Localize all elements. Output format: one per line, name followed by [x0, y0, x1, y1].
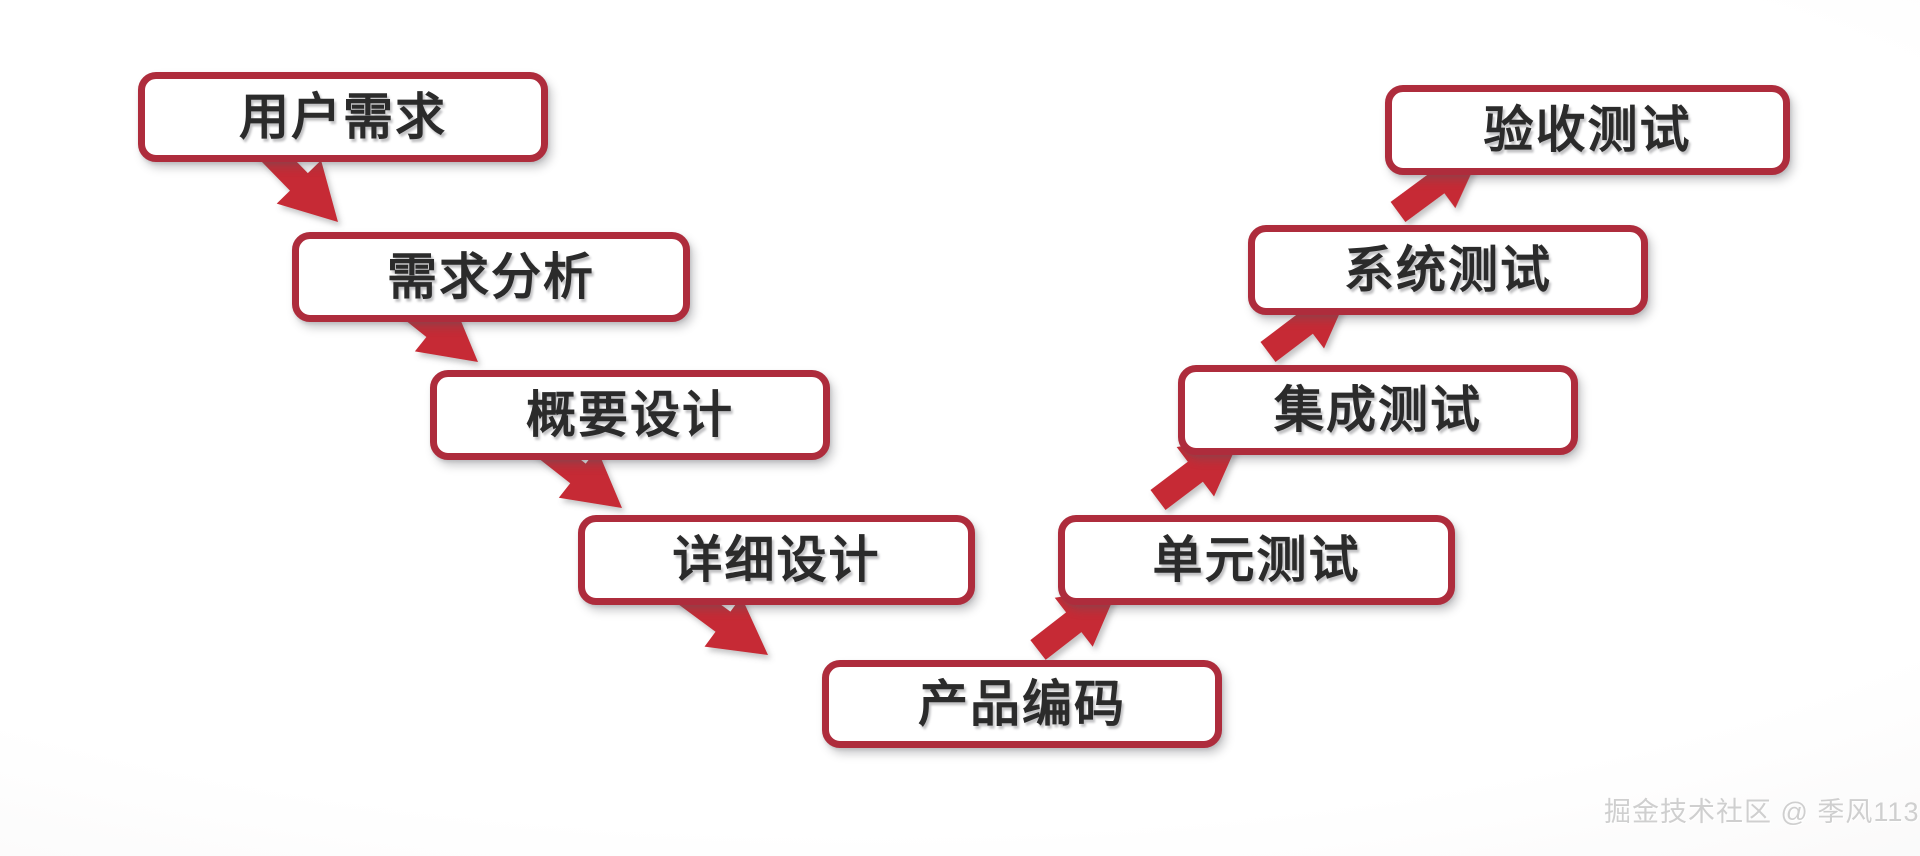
node-label: 概要设计	[526, 390, 734, 440]
node-label: 集成测试	[1274, 385, 1482, 435]
node-system-test[interactable]: 系统测试	[1248, 225, 1648, 315]
node-label: 验收测试	[1484, 105, 1692, 155]
node-label: 详细设计	[673, 535, 881, 585]
node-outline-design[interactable]: 概要设计	[430, 370, 830, 460]
node-integration-test[interactable]: 集成测试	[1178, 365, 1578, 455]
node-detailed-design[interactable]: 详细设计	[578, 515, 975, 605]
node-user-requirements[interactable]: 用户需求	[138, 72, 548, 162]
node-label: 产品编码	[918, 679, 1126, 729]
watermark-text: 掘金技术社区 @ 季风1132	[1604, 790, 1920, 829]
node-product-coding[interactable]: 产品编码	[822, 660, 1222, 748]
diagram-canvas: 用户需求 需求分析 概要设计 详细设计 产品编码 单元测试 集成测试 系统测试 …	[0, 0, 1920, 856]
node-label: 单元测试	[1153, 535, 1361, 585]
node-label: 用户需求	[239, 92, 447, 142]
node-unit-test[interactable]: 单元测试	[1058, 515, 1455, 605]
node-acceptance-test[interactable]: 验收测试	[1385, 85, 1790, 175]
node-label: 系统测试	[1344, 245, 1552, 295]
node-requirements-analysis[interactable]: 需求分析	[292, 232, 690, 322]
node-label: 需求分析	[387, 252, 595, 302]
